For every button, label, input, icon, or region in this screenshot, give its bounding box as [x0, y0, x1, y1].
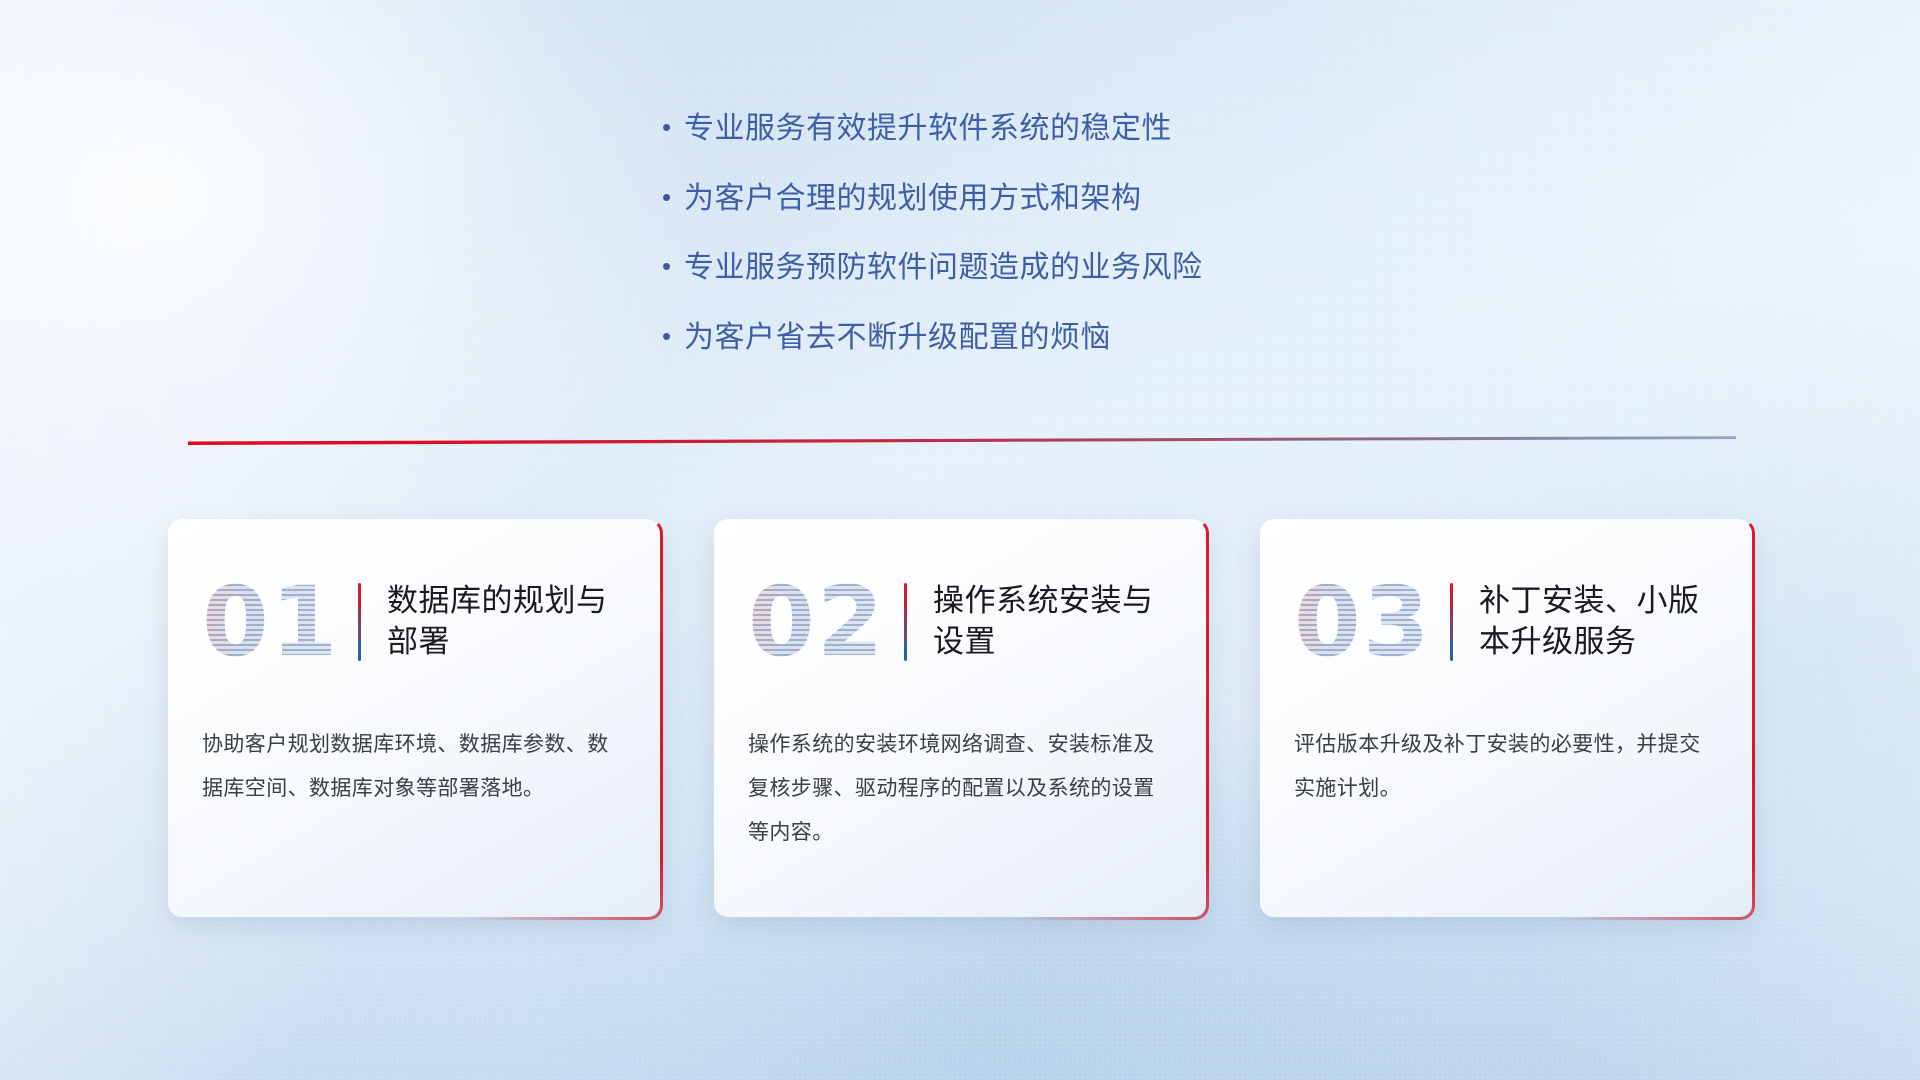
card-header: 01 数据库的规划与部署	[202, 557, 626, 687]
slide-canvas: • 专业服务有效提升软件系统的稳定性 • 为客户合理的规划使用方式和架构 • 专…	[0, 0, 1920, 1080]
divider-line-icon	[188, 430, 1736, 452]
card-number: 01	[202, 574, 354, 670]
list-item: • 为客户合理的规划使用方式和架构	[662, 180, 1203, 218]
list-item: • 专业服务预防软件问题造成的业务风险	[662, 249, 1203, 287]
card-body-text: 协助客户规划数据库环境、数据库参数、数据库空间、数据库对象等部署落地。	[202, 723, 626, 811]
card-header: 02 操作系统安装与设置	[748, 557, 1172, 687]
card-title: 操作系统安装与设置	[933, 581, 1172, 663]
card-body-text: 评估版本升级及补丁安装的必要性，并提交实施计划。	[1294, 723, 1718, 811]
bullet-text: 专业服务有效提升软件系统的稳定性	[684, 110, 1172, 148]
bullet-text: 专业服务预防软件问题造成的业务风险	[684, 249, 1203, 287]
service-card-group: 01 数据库的规划与部署 协助客户规划数据库环境、数据库参数、数据库空间、数据库…	[0, 519, 1920, 917]
card-divider-rule	[904, 583, 907, 661]
bullet-text: 为客户合理的规划使用方式和架构	[684, 180, 1142, 218]
bullet-dot-icon: •	[662, 323, 684, 349]
card-number: 03	[1294, 574, 1446, 670]
card-number: 02	[748, 574, 900, 670]
list-item: • 专业服务有效提升软件系统的稳定性	[662, 110, 1203, 148]
list-item: • 为客户省去不断升级配置的烦恼	[662, 319, 1203, 357]
bullet-text: 为客户省去不断升级配置的烦恼	[684, 319, 1111, 357]
service-card[interactable]: 01 数据库的规划与部署 协助客户规划数据库环境、数据库参数、数据库空间、数据库…	[168, 519, 660, 917]
card-divider-rule	[1450, 583, 1453, 661]
bullet-dot-icon: •	[662, 184, 684, 210]
bullet-dot-icon: •	[662, 114, 684, 140]
card-header: 03 补丁安装、小版本升级服务	[1294, 557, 1718, 687]
section-divider	[188, 430, 1736, 452]
card-title: 数据库的规划与部署	[387, 581, 626, 663]
card-body-text: 操作系统的安装环境网络调查、安装标准及复核步骤、驱动程序的配置以及系统的设置等内…	[748, 723, 1172, 855]
card-divider-rule	[358, 583, 361, 661]
service-card[interactable]: 03 补丁安装、小版本升级服务 评估版本升级及补丁安装的必要性，并提交实施计划。	[1260, 519, 1752, 917]
card-title: 补丁安装、小版本升级服务	[1479, 581, 1718, 663]
bullet-dot-icon: •	[662, 253, 684, 279]
service-card[interactable]: 02 操作系统安装与设置 操作系统的安装环境网络调查、安装标准及复核步骤、驱动程…	[714, 519, 1206, 917]
benefits-bullet-list: • 专业服务有效提升软件系统的稳定性 • 为客户合理的规划使用方式和架构 • 专…	[662, 110, 1203, 388]
